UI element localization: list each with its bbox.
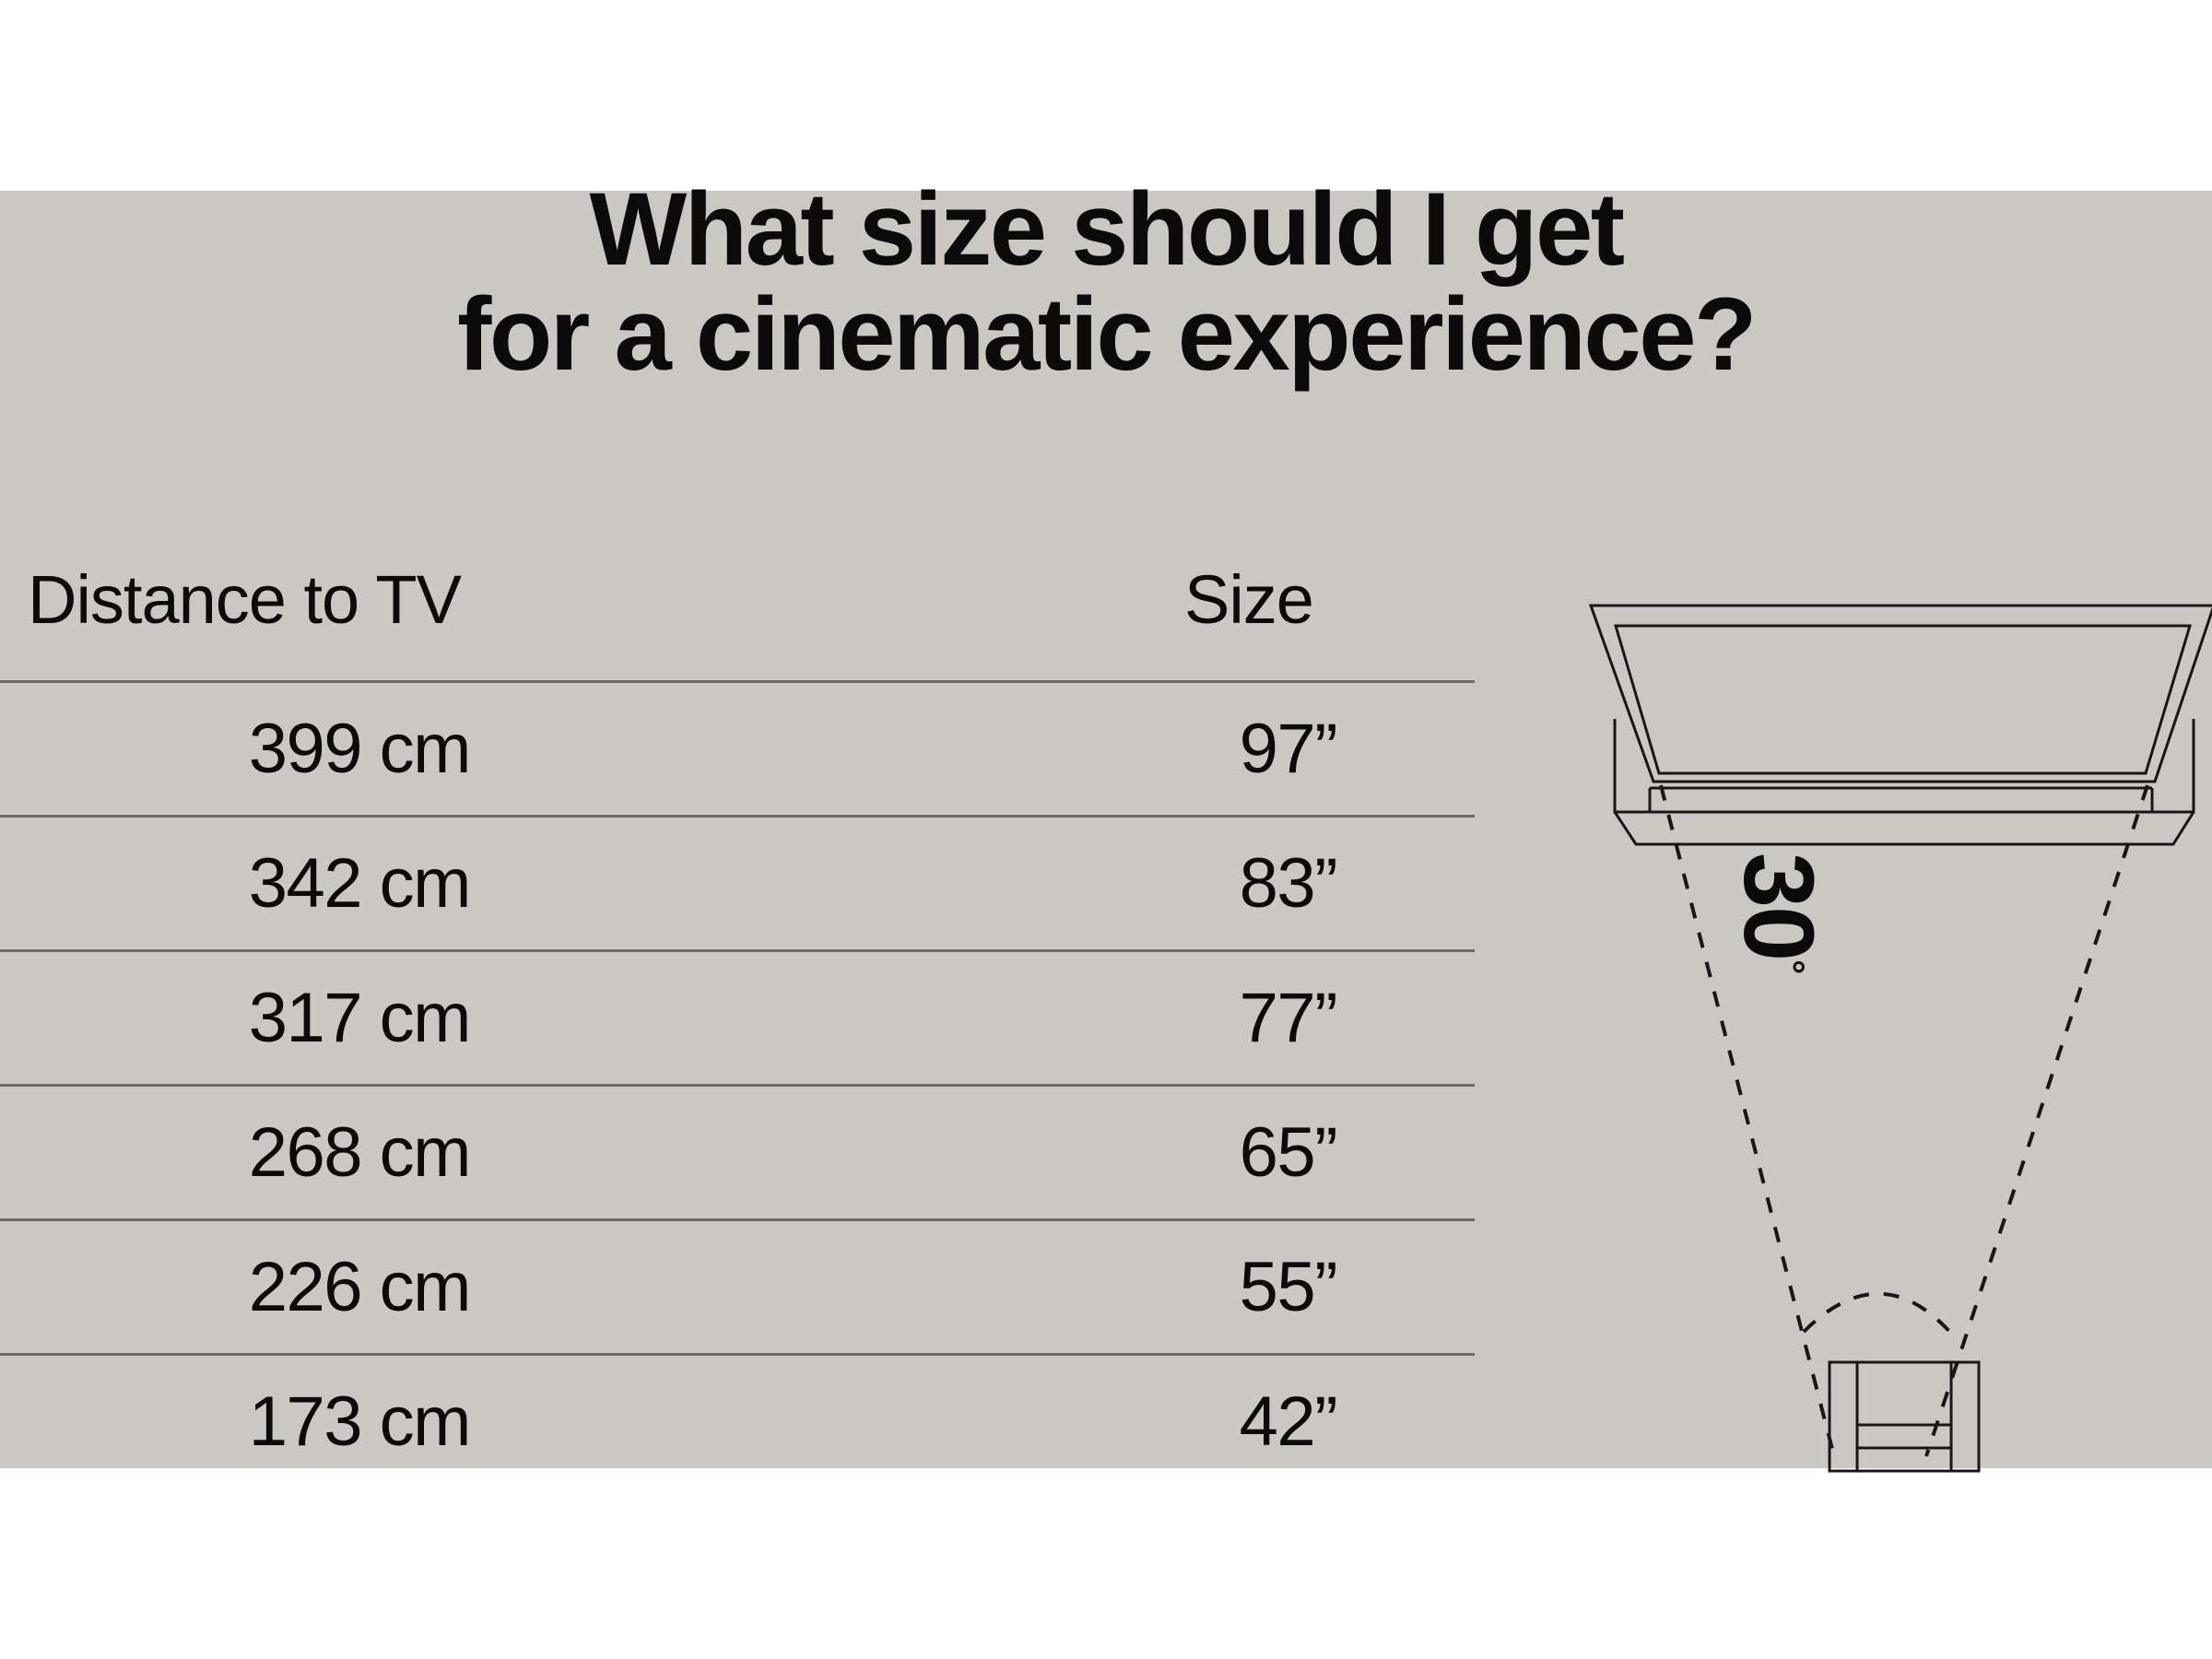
table-row: 226 cm 55”	[0, 1218, 1475, 1353]
cell-size: 83”	[1014, 843, 1336, 924]
viewing-angle-value: 30	[1724, 853, 1835, 959]
column-header-distance: Distance to TV	[28, 560, 461, 639]
cell-distance: 342 cm	[0, 843, 470, 924]
column-header-size: Size	[1184, 560, 1313, 639]
cell-distance: 399 cm	[0, 709, 470, 789]
cell-size: 65”	[1014, 1112, 1336, 1193]
cell-distance: 226 cm	[0, 1247, 470, 1327]
table-row: 399 cm 97”	[0, 680, 1475, 815]
cell-size: 55”	[1014, 1247, 1336, 1327]
infographic-root: What size should I get for a cinematic e…	[0, 0, 2212, 1659]
cell-distance: 173 cm	[0, 1382, 470, 1462]
cell-size: 42”	[1014, 1382, 1336, 1462]
cell-size: 77”	[1014, 978, 1336, 1058]
table-row: 342 cm 83”	[0, 815, 1475, 949]
table-header-row: Distance to TV Size	[0, 553, 1475, 680]
table-row: 268 cm 65”	[0, 1084, 1475, 1218]
degree-symbol: °	[1771, 959, 1811, 972]
viewing-angle-diagram	[1558, 553, 2212, 1484]
table-row: 317 cm 77”	[0, 949, 1475, 1084]
viewing-angle-label: 30°	[1722, 853, 1837, 972]
tv-top-view-icon	[1591, 606, 2212, 844]
page-title: What size should I get for a cinematic e…	[0, 177, 2212, 387]
cell-distance: 268 cm	[0, 1112, 470, 1193]
table-row: 173 cm 42”	[0, 1353, 1475, 1488]
size-recommendation-table: Distance to TV Size 399 cm 97” 342 cm 83…	[0, 553, 1475, 1488]
viewing-angle-cone-icon	[1558, 553, 2212, 1484]
cell-distance: 317 cm	[0, 978, 470, 1058]
armchair-top-view-icon	[1830, 1362, 1979, 1471]
cell-size: 97”	[1014, 709, 1336, 789]
